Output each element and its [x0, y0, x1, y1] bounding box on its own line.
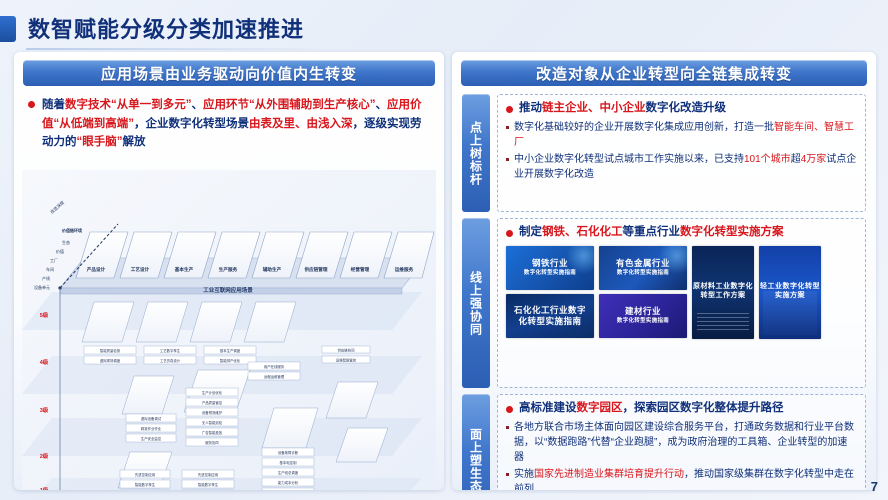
chart-svg: 工业互联网应用场景 产品设计 工艺设计 基本生产 生产服务 辅助生产 供应链管理… — [22, 170, 436, 490]
svg-text:广告智能投放: 广告智能投放 — [202, 430, 223, 435]
svg-text:虚拟现场调度: 虚拟现场调度 — [100, 358, 121, 363]
block-1-content: 推动链主企业、中小企业数字化改造升级 数字化基础较好的企业开展数字化集成应用创新… — [497, 94, 866, 212]
svg-text:辅助生产: 辅助生产 — [263, 266, 282, 273]
title-underline — [26, 48, 326, 50]
svg-text:设备预测维护: 设备预测维护 — [202, 410, 223, 415]
svg-text:精准作业作业: 精准作业作业 — [141, 426, 162, 431]
svg-text:远程运维管理: 远程运维管理 — [264, 374, 285, 379]
svg-text:智能数字孪生: 智能数字孪生 — [135, 482, 156, 487]
thumb-subtitle: 化转型实施指南 — [518, 316, 581, 327]
svg-text:运维服务: 运维服务 — [395, 266, 414, 273]
block-surface-ecosystem: 面上塑生态 高标准建设数字园区，探索园区数字化整体提升路径 各地方联合市场主体面… — [462, 394, 866, 490]
document-thumbnail-gallery: 钢铁行业 数字化转型实施指南 石化化工行业数字 化转型实施指南 有色金属行业 数… — [506, 246, 857, 339]
vtab-point-benchmark[interactable]: 点上树标杆 — [462, 94, 490, 212]
thumb-steel-industry[interactable]: 钢铁行业 数字化转型实施指南 — [506, 246, 594, 290]
right-panel-header: 改造对象从企业转型向全链集成转变 — [461, 60, 867, 86]
sub-bullet-icon — [506, 158, 509, 161]
left-panel: 应用场景由业务驱动向价值内生转变 随着数字技术“从单一到多元”、应用环节“从外围… — [14, 52, 444, 490]
block-line-collaboration: 线上强协同 制定钢铁、石化化工等重点行业数字化转型实施方案 钢铁行业 数字化转型… — [462, 218, 866, 388]
right-panel-header-text: 改造对象从企业转型向全链集成转变 — [536, 63, 792, 84]
svg-text:工艺仿真设计: 工艺仿真设计 — [160, 358, 181, 363]
svg-text:生态: 生态 — [62, 239, 70, 245]
svg-text:2级: 2级 — [40, 452, 49, 460]
page-title: 数智赋能分级分类加速推进 — [28, 12, 304, 44]
right-panel: 改造对象从企业转型向全链集成转变 点上树标杆 推动链主企业、中小企业数字化改造升… — [452, 52, 876, 490]
block-3-sub-1: 各地方联合市场主体面向园区建设综合服务平台，打通政务数据和行业平台数据，以“数据… — [506, 420, 857, 465]
svg-text:基本生产: 基本生产 — [174, 266, 194, 273]
sub-bullet-icon — [506, 426, 509, 429]
block-1-heading-text: 推动链主企业、中小企业数字化改造升级 — [519, 101, 726, 117]
block-3-heading: 高标准建设数字园区，探索园区数字化整体提升路径 — [506, 401, 857, 417]
left-bullet-item: 随着数字技术“从单一到多元”、应用环节“从外围辅助到生产核心”、应用价值“从低端… — [28, 96, 432, 152]
thumb-subtitle: 数字化转型实施指南 — [617, 270, 669, 277]
block-2-heading: 制定钢铁、石化化工等重点行业数字化转型实施方案 — [506, 225, 857, 241]
svg-text:工厂: 工厂 — [50, 258, 58, 263]
thumb-title: 原材料工业数字化 — [693, 283, 753, 292]
thumb-subtitle: 数字化转型实施指南 — [617, 318, 669, 325]
svg-text:用户在线服务: 用户在线服务 — [264, 364, 285, 369]
thumb-subtitle: 转型工作方案 — [701, 292, 746, 301]
thumb-building-materials-industry[interactable]: 建材行业 数字化转型实施指南 — [599, 294, 687, 338]
vtab-surface-ecosystem[interactable]: 面上塑生态 — [462, 394, 490, 490]
block-2-content: 制定钢铁、石化化工等重点行业数字化转型实施方案 钢铁行业 数字化转型实施指南 石… — [497, 218, 866, 388]
block-3-sub-1-text: 各地方联合市场主体面向园区建设综合服务平台，打通政务数据和行业平台数据，以“数据… — [514, 420, 857, 465]
thumb-title: 钢铁行业 — [532, 258, 568, 269]
svg-text:生产安全监控: 生产安全监控 — [141, 436, 162, 441]
svg-text:设备故障诊断: 设备故障诊断 — [278, 450, 299, 455]
svg-text:经营管理: 经营管理 — [351, 266, 370, 273]
thumb-title: 石化化工行业数字 — [514, 305, 586, 316]
svg-text:工艺设计: 工艺设计 — [131, 266, 150, 273]
svg-text:生产计划优化: 生产计划优化 — [202, 390, 223, 395]
chart-3d-layered-diagram: 工业互联网应用场景 产品设计 工艺设计 基本生产 生产服务 辅助生产 供应链管理… — [22, 170, 436, 490]
block-1-sub-1: 数字化基础较好的企业开展数字化集成应用创新，打造一批智能车间、智慧工厂 — [506, 120, 857, 150]
block-3-heading-text: 高标准建设数字园区，探索园区数字化整体提升路径 — [519, 401, 784, 417]
svg-text:供应链协同: 供应链协同 — [338, 348, 356, 353]
sub-bullet-icon — [506, 126, 509, 129]
svg-text:价值链环境: 价值链环境 — [62, 227, 82, 233]
svg-text:先进控制应用: 先进控制应用 — [135, 472, 155, 477]
thumb-column-1: 钢铁行业 数字化转型实施指南 石化化工行业数字 化转型实施指南 — [506, 246, 594, 338]
svg-text:智能数字孪生: 智能数字孪生 — [198, 482, 219, 487]
page-number: 7 — [871, 479, 878, 494]
svg-text:先进控制应用: 先进控制应用 — [198, 472, 218, 477]
svg-text:产品质量管控: 产品质量管控 — [202, 400, 223, 405]
block-3-sub-2: 实施国家先进制造业集群培育提升行动，推动国家级集群在数字化转型中走在前列 — [506, 467, 857, 490]
svg-text:智能排产优化: 智能排产优化 — [220, 358, 241, 363]
svg-text:供应链管理: 供应链管理 — [304, 266, 328, 273]
thumb-title: 建材行业 — [625, 306, 661, 317]
slide-title-bar: 数智赋能分级分类加速推进 — [0, 8, 888, 44]
bullet-dot-icon — [28, 101, 35, 108]
block-1-sub-2: 中小企业数字化转型试点城市工作实施以来，已支持101个城市超4万家试点企业开展数… — [506, 152, 857, 182]
svg-text:产品设计: 产品设计 — [87, 266, 106, 273]
svg-text:工艺数字孪生: 工艺数字孪生 — [160, 348, 181, 353]
block-3-sub-2-text: 实施国家先进制造业集群培育提升行动，推动国家级集群在数字化转型中走在前列 — [514, 467, 857, 490]
left-panel-header-text: 应用场景由业务驱动向价值内生转变 — [101, 63, 357, 84]
svg-text:工业互联网应用场景: 工业互联网应用场景 — [203, 286, 253, 294]
svg-text:产线: 产线 — [42, 275, 50, 281]
thumb-illustration-decor — [763, 291, 817, 335]
thumb-column-2: 有色金属行业 数字化转型实施指南 建材行业 数字化转型实施指南 — [599, 246, 687, 338]
svg-text:5级: 5级 — [40, 311, 49, 319]
thumb-raw-materials-plan[interactable]: 原材料工业数字化 转型工作方案 — [692, 246, 754, 339]
svg-text:能力成本分析: 能力成本分析 — [278, 480, 299, 485]
svg-text:车间: 车间 — [46, 266, 54, 272]
thumb-nonferrous-metals-industry[interactable]: 有色金属行业 数字化转型实施指南 — [599, 246, 687, 290]
svg-text:智能质量检测: 智能质量检测 — [100, 348, 121, 353]
bullet-dot-icon — [506, 230, 513, 237]
thumb-petrochemical-industry[interactable]: 石化化工行业数字 化转型实施指南 — [506, 294, 594, 338]
block-2-heading-text: 制定钢铁、石化化工等重点行业数字化转型实施方案 — [519, 225, 784, 241]
block-point-benchmark: 点上树标杆 推动链主企业、中小企业数字化改造升级 数字化基础较好的企业开展数字化… — [462, 94, 866, 212]
svg-text:运维智能管控: 运维智能管控 — [336, 358, 357, 363]
svg-text:基本电控制: 基本电控制 — [280, 460, 298, 465]
svg-text:生产线总调度: 生产线总调度 — [278, 470, 299, 475]
thumb-light-industry-plan[interactable]: 轻工业数字化转型 实施方案 — [759, 246, 821, 339]
left-bullet-text: 随着数字技术“从单一到多元”、应用环节“从外围辅助到生产核心”、应用价值“从低端… — [42, 96, 432, 152]
block-1-sub-1-text: 数字化基础较好的企业开展数字化集成应用创新，打造一批智能车间、智慧工厂 — [514, 120, 857, 150]
svg-text:虚拟设备调试: 虚拟设备调试 — [141, 416, 162, 421]
svg-text:基本生产调度: 基本生产调度 — [220, 348, 241, 353]
thumb-text-lines-decor — [697, 313, 749, 333]
svg-text:生产服务: 生产服务 — [219, 266, 238, 273]
bullet-dot-icon — [506, 106, 513, 113]
svg-text:3级: 3级 — [40, 406, 49, 414]
bullet-dot-icon — [506, 406, 513, 413]
sub-bullet-icon — [506, 473, 509, 476]
block-3-content: 高标准建设数字园区，探索园区数字化整体提升路径 各地方联合市场主体面向园区建设综… — [497, 394, 866, 490]
left-panel-header: 应用场景由业务驱动向价值内生转变 — [23, 60, 435, 86]
vtab-line-collaboration[interactable]: 线上强协同 — [462, 218, 490, 388]
svg-text:无人智能巡检: 无人智能巡检 — [202, 420, 223, 425]
svg-text:4级: 4级 — [40, 358, 49, 366]
title-accent-bar — [0, 16, 16, 42]
block-1-sub-2-text: 中小企业数字化转型试点城市工作实施以来，已支持101个城市超4万家试点企业开展数… — [514, 152, 857, 182]
thumb-subtitle: 数字化转型实施指南 — [524, 270, 576, 277]
svg-text:设备单元: 设备单元 — [34, 284, 50, 290]
svg-text:服务协同: 服务协同 — [205, 440, 219, 445]
svg-text:价值: 价值 — [56, 248, 64, 254]
block-1-heading: 推动链主企业、中小企业数字化改造升级 — [506, 101, 857, 117]
